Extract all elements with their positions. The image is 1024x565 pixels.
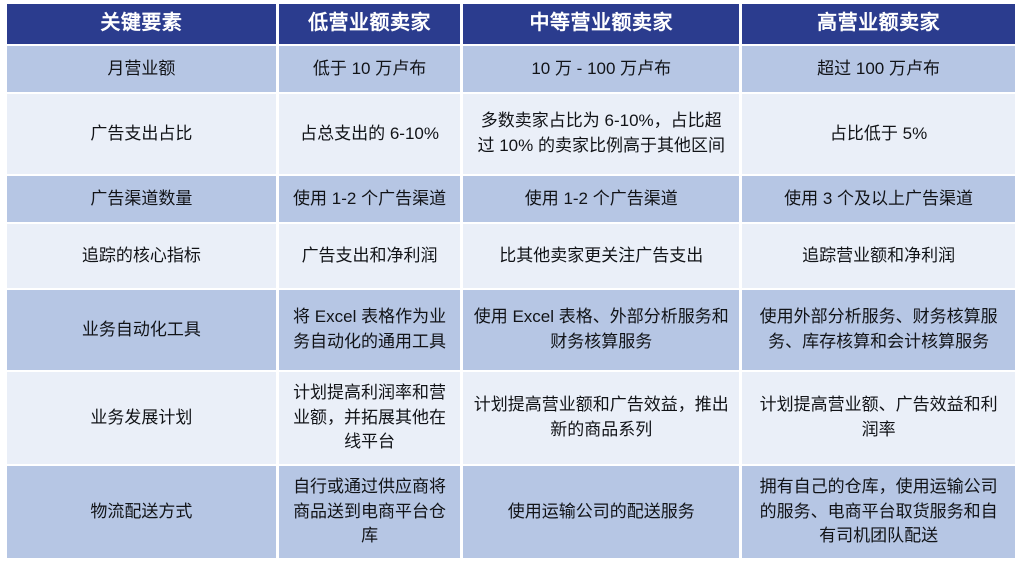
cell-low: 使用 1-2 个广告渠道 xyxy=(279,176,461,222)
row-label: 业务发展计划 xyxy=(7,372,276,464)
row-label: 追踪的核心指标 xyxy=(7,224,276,288)
comparison-table-container: 关键要素 低营业额卖家 中等营业额卖家 高营业额卖家 月营业额 低于 10 万卢… xyxy=(4,2,1018,559)
cell-low: 计划提高利润率和营业额，并拓展其他在线平台 xyxy=(279,372,461,464)
cell-low: 广告支出和净利润 xyxy=(279,224,461,288)
row-label: 广告支出占比 xyxy=(7,94,276,174)
table-row: 月营业额 低于 10 万卢布 10 万 - 100 万卢布 超过 100 万卢布 xyxy=(7,46,1015,92)
row-label: 月营业额 xyxy=(7,46,276,92)
column-header-high-revenue: 高营业额卖家 xyxy=(742,4,1015,44)
table-row: 广告支出占比 占总支出的 6-10% 多数卖家占比为 6-10%，占比超过 10… xyxy=(7,94,1015,174)
cell-high: 占比低于 5% xyxy=(742,94,1015,174)
cell-high: 拥有自己的仓库，使用运输公司的服务、电商平台取货服务和自有司机团队配送 xyxy=(742,466,1015,558)
cell-mid: 计划提高营业额和广告效益，推出新的商品系列 xyxy=(463,372,739,464)
column-header-low-revenue: 低营业额卖家 xyxy=(279,4,461,44)
table-row: 广告渠道数量 使用 1-2 个广告渠道 使用 1-2 个广告渠道 使用 3 个及… xyxy=(7,176,1015,222)
cell-high: 使用外部分析服务、财务核算服务、库存核算和会计核算服务 xyxy=(742,290,1015,370)
column-header-mid-revenue: 中等营业额卖家 xyxy=(463,4,739,44)
cell-high: 超过 100 万卢布 xyxy=(742,46,1015,92)
cell-mid: 使用 Excel 表格、外部分析服务和财务核算服务 xyxy=(463,290,739,370)
cell-low: 低于 10 万卢布 xyxy=(279,46,461,92)
row-label: 广告渠道数量 xyxy=(7,176,276,222)
column-header-key-factor: 关键要素 xyxy=(7,4,276,44)
row-label: 业务自动化工具 xyxy=(7,290,276,370)
seller-comparison-table: 关键要素 低营业额卖家 中等营业额卖家 高营业额卖家 月营业额 低于 10 万卢… xyxy=(4,2,1018,560)
cell-mid: 多数卖家占比为 6-10%，占比超过 10% 的卖家比例高于其他区间 xyxy=(463,94,739,174)
cell-low: 占总支出的 6-10% xyxy=(279,94,461,174)
table-header: 关键要素 低营业额卖家 中等营业额卖家 高营业额卖家 xyxy=(7,4,1015,44)
row-label: 物流配送方式 xyxy=(7,466,276,558)
cell-mid: 比其他卖家更关注广告支出 xyxy=(463,224,739,288)
table-header-row: 关键要素 低营业额卖家 中等营业额卖家 高营业额卖家 xyxy=(7,4,1015,44)
table-row: 业务发展计划 计划提高利润率和营业额，并拓展其他在线平台 计划提高营业额和广告效… xyxy=(7,372,1015,464)
table-row: 物流配送方式 自行或通过供应商将商品送到电商平台仓库 使用运输公司的配送服务 拥… xyxy=(7,466,1015,558)
table-row: 追踪的核心指标 广告支出和净利润 比其他卖家更关注广告支出 追踪营业额和净利润 xyxy=(7,224,1015,288)
cell-high: 追踪营业额和净利润 xyxy=(742,224,1015,288)
table-row: 业务自动化工具 将 Excel 表格作为业务自动化的通用工具 使用 Excel … xyxy=(7,290,1015,370)
cell-low: 将 Excel 表格作为业务自动化的通用工具 xyxy=(279,290,461,370)
cell-mid: 使用 1-2 个广告渠道 xyxy=(463,176,739,222)
cell-low: 自行或通过供应商将商品送到电商平台仓库 xyxy=(279,466,461,558)
cell-high: 计划提高营业额、广告效益和利润率 xyxy=(742,372,1015,464)
cell-high: 使用 3 个及以上广告渠道 xyxy=(742,176,1015,222)
cell-mid: 使用运输公司的配送服务 xyxy=(463,466,739,558)
table-body: 月营业额 低于 10 万卢布 10 万 - 100 万卢布 超过 100 万卢布… xyxy=(7,46,1015,558)
cell-mid: 10 万 - 100 万卢布 xyxy=(463,46,739,92)
